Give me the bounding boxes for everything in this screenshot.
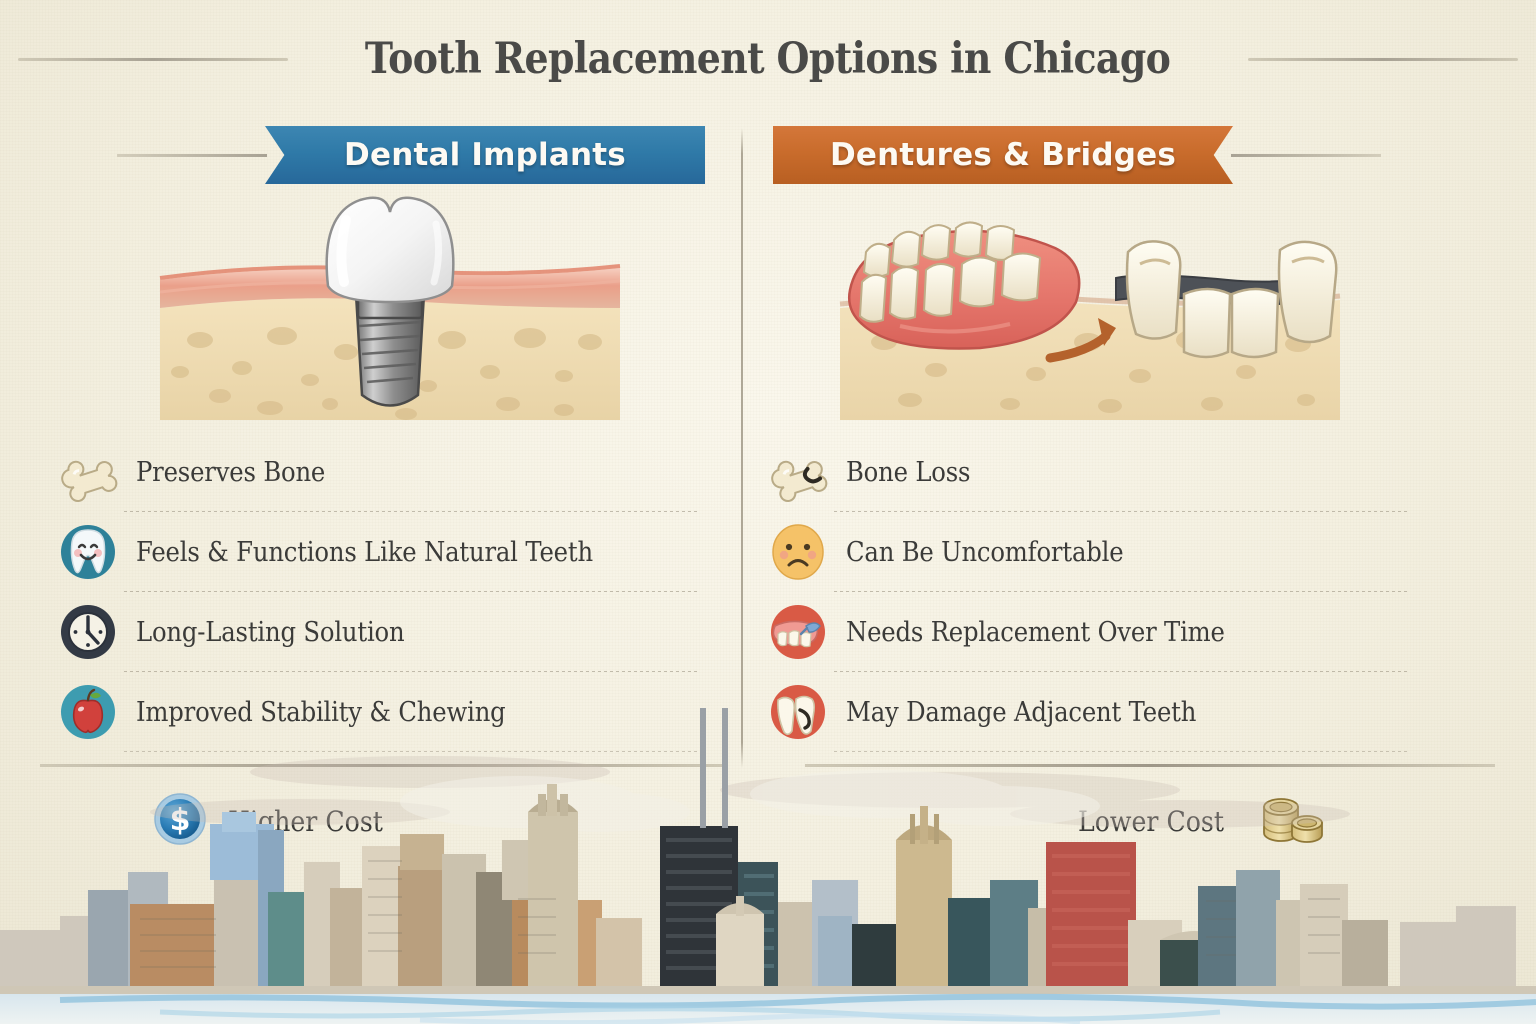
feature-label: Feels & Functions Like Natural Teeth	[136, 537, 593, 568]
dental-implant-illustration	[160, 190, 620, 420]
infographic-page: Tooth Replacement Options in Chicago Den…	[0, 0, 1536, 1024]
banner-row-implants: Dental Implants	[0, 124, 741, 186]
banner-dental-implants: Dental Implants	[265, 126, 705, 184]
implant-crown	[327, 198, 454, 302]
feature-label: Long-Lasting Solution	[136, 617, 404, 648]
page-title: Tooth Replacement Options in Chicago	[365, 34, 1170, 84]
gothic-tower	[528, 784, 578, 990]
denture-bridge-illustration	[840, 190, 1340, 420]
title-rule-right	[1248, 58, 1518, 61]
bone-icon	[58, 442, 118, 502]
feature-label: Can Be Uncomfortable	[846, 537, 1123, 568]
right-buildings	[716, 806, 1388, 990]
feature-row[interactable]: Needs Replacement Over Time	[768, 592, 1408, 672]
frowning-face-icon	[768, 522, 828, 582]
banner-tail-left	[117, 154, 267, 157]
feature-row[interactable]: Long-Lasting Solution	[58, 592, 698, 672]
smiling-tooth-icon	[58, 522, 118, 582]
haze-clouds	[150, 756, 1350, 828]
title-row: Tooth Replacement Options in Chicago	[0, 28, 1536, 90]
feature-row[interactable]: Feels & Functions Like Natural Teeth	[58, 512, 698, 592]
feature-row[interactable]: Preserves Bone	[58, 432, 698, 512]
banner-row-dentures: Dentures & Bridges	[741, 124, 1536, 186]
feature-row[interactable]: Bone Loss	[768, 432, 1408, 512]
lake-michigan-water	[0, 994, 1536, 1024]
clock-icon	[58, 602, 118, 662]
banner-label-implants: Dental Implants	[344, 137, 626, 173]
feature-label: Needs Replacement Over Time	[846, 617, 1225, 648]
banner-dentures-bridges: Dentures & Bridges	[773, 126, 1233, 184]
chicago-skyline	[0, 694, 1536, 1024]
denture-graphic	[849, 222, 1079, 348]
cracked-bone-icon	[768, 442, 828, 502]
banner-label-dentures: Dentures & Bridges	[830, 137, 1176, 173]
banner-tail-right	[1231, 154, 1381, 157]
denture-icon	[768, 602, 828, 662]
center-divider	[741, 128, 743, 768]
feature-row[interactable]: Can Be Uncomfortable	[768, 512, 1408, 592]
feature-label: Preserves Bone	[136, 457, 325, 488]
title-rule-left	[18, 58, 288, 61]
feature-label: Bone Loss	[846, 457, 970, 488]
